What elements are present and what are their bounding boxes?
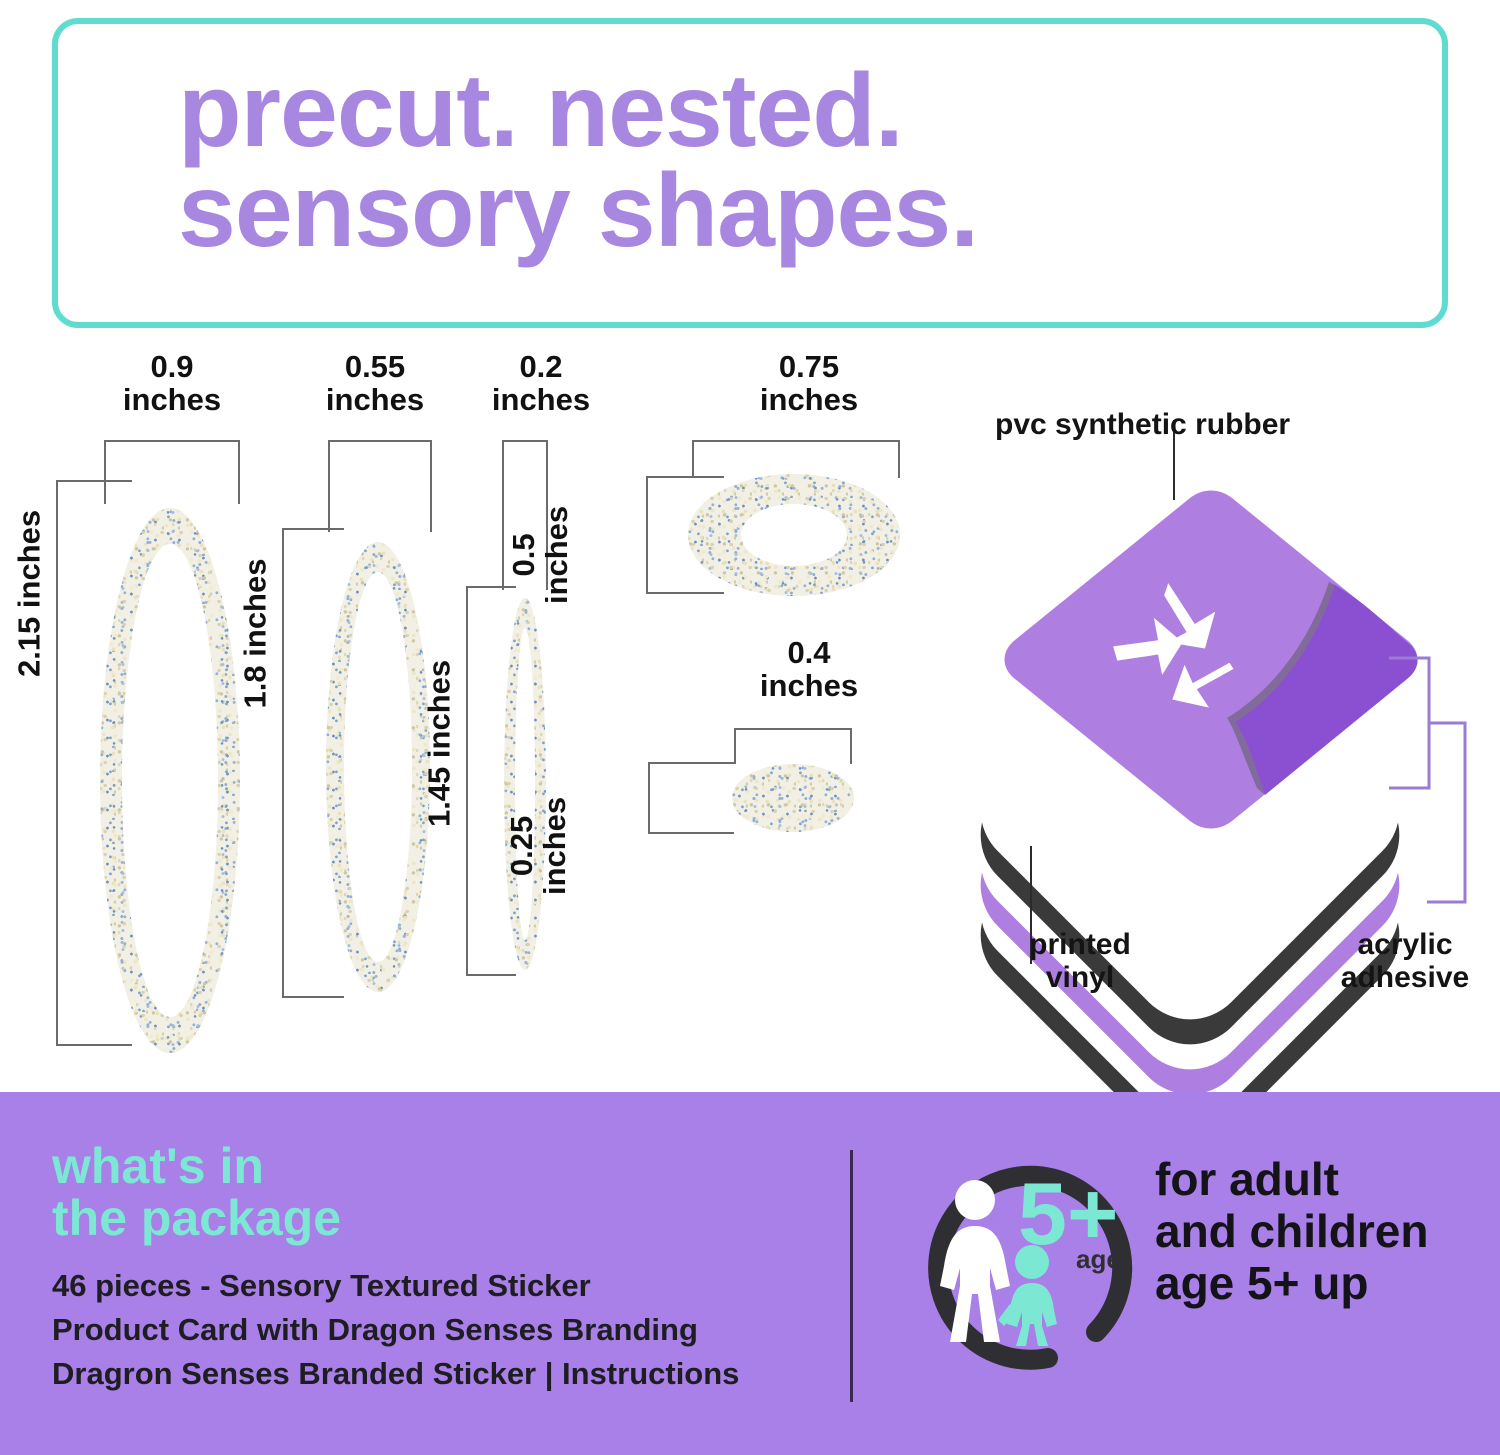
oval-shape-medium bbox=[326, 542, 430, 992]
ring-shape-small bbox=[688, 474, 900, 596]
package-line: Product Card with Dragon Senses Branding bbox=[52, 1308, 842, 1352]
dim-label-small-ring-height: 0.5 inches bbox=[507, 467, 574, 643]
bracket-tiny-ellipse-height bbox=[648, 762, 734, 834]
dim-label-tiny-ellipse-height: 0.25 inches bbox=[505, 753, 572, 939]
bracket-small-ring-width bbox=[692, 440, 900, 478]
package-line: Dragron Senses Branded Sticker | Instruc… bbox=[52, 1352, 842, 1396]
material-layers-diagram bbox=[935, 470, 1455, 940]
ellipse-shape-tiny bbox=[732, 764, 854, 832]
label-pvc-synthetic-rubber: pvc synthetic rubber bbox=[995, 408, 1415, 441]
label-printed-vinyl: printed vinyl bbox=[970, 928, 1190, 994]
ring-hole-small bbox=[741, 504, 847, 566]
dim-label-tiny-ellipse-width: 0.4 inches bbox=[726, 636, 892, 703]
label-acrylic-adhesive: acrylic adhesive bbox=[1290, 928, 1500, 994]
package-heading: what's in the package bbox=[52, 1140, 572, 1244]
top-sheet-svg bbox=[935, 490, 1455, 820]
age-badge-icon: 5+ age bbox=[898, 1144, 1138, 1384]
dim-label-thin-oval-height: 1.45 inches bbox=[423, 623, 456, 863]
panel-divider bbox=[850, 1150, 853, 1402]
bottom-info-panel: what's in the package 46 pieces - Sensor… bbox=[0, 1092, 1500, 1455]
bracket-acrylic-adhesive bbox=[1387, 640, 1500, 970]
dim-label-medium-oval-width: 0.55 inches bbox=[290, 350, 460, 417]
age-sub-label: age bbox=[1076, 1244, 1121, 1274]
dim-label-thin-oval-width: 0.2 inches bbox=[466, 350, 616, 417]
dim-label-large-oval-height: 2.15 inches bbox=[13, 443, 46, 743]
oval-shape-large bbox=[100, 508, 240, 1053]
package-contents-list: 46 pieces - Sensory Textured Sticker Pro… bbox=[52, 1264, 842, 1396]
age-requirement-text: for adult and children age 5+ up bbox=[1155, 1154, 1495, 1310]
bracket-tiny-ellipse-width bbox=[734, 728, 852, 764]
dim-label-medium-oval-height: 1.8 inches bbox=[239, 503, 272, 763]
shapes-diagram: 0.9 inches 2.15 inches 0.55 inches 1.8 i… bbox=[0, 330, 1500, 1090]
bracket-medium-oval-width bbox=[328, 440, 432, 532]
header-banner: precut. nested. sensory shapes. bbox=[52, 18, 1448, 328]
oval-hole-medium bbox=[344, 572, 412, 962]
page-title: precut. nested. sensory shapes. bbox=[178, 62, 1458, 262]
dim-label-small-ring-width: 0.75 inches bbox=[716, 350, 902, 417]
oval-hole-large bbox=[122, 544, 218, 1017]
dim-label-large-oval-width: 0.9 inches bbox=[92, 350, 252, 417]
package-line: 46 pieces - Sensory Textured Sticker bbox=[52, 1264, 842, 1308]
